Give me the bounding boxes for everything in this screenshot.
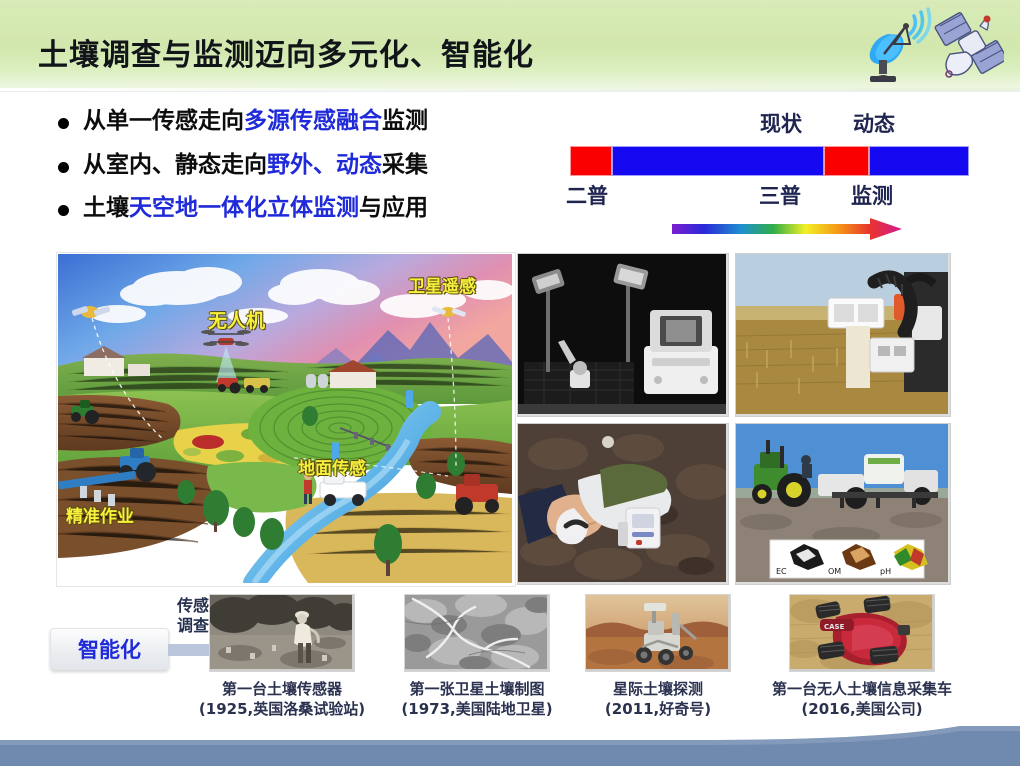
timeline-segment-red (570, 146, 612, 176)
history-caption: 星际土壤探测 (2011,好奇号) (553, 680, 763, 719)
survey-timeline: 现状 动态 二普 三普 监测 (560, 108, 980, 248)
history-subtitle: (1925,英国洛桑试验站) (177, 700, 387, 720)
history-subtitle: (2016,美国公司) (757, 700, 967, 720)
timeline-label-erpu: 二普 (566, 180, 608, 210)
timeline-label-dongtai: 动态 (853, 108, 895, 138)
bullet-dot-icon (58, 205, 69, 216)
timeline-bottom-labels: 二普 三普 监测 (560, 180, 980, 210)
field-soil-sensor-photo (735, 253, 951, 417)
history-item: 星际土壤探测 (2011,好奇号) (553, 594, 763, 719)
legend-label-ec: EC (776, 567, 787, 576)
mars-rover-photo (585, 594, 731, 672)
history-title: 星际土壤探测 (553, 680, 763, 700)
history-title: 第一台无人土壤信息采集车 (757, 680, 967, 700)
timeline-segment-red (824, 146, 869, 176)
autonomous-soil-sampler-photo: CASE (789, 594, 935, 672)
equipment-photo-grid: EC OM pH (517, 253, 951, 584)
legend-label-om: OM (828, 567, 841, 576)
timeline-top-labels: 现状 动态 (560, 108, 980, 138)
history-caption: 第一台土壤传感器 (1925,英国洛桑试验站) (177, 680, 387, 719)
satellite-dish-icon (870, 9, 930, 82)
history-timeline-row: 智能化 传感 调查 (0, 592, 1020, 738)
bullet-list: 从单一传感走向多源传感融合监测 从室内、静态走向野外、动态采集 土壤天空地一体化… (58, 108, 528, 239)
bullet-item: 从室内、静态走向野外、动态采集 (58, 152, 528, 180)
lab-spectrometer-photo (517, 253, 729, 417)
first-soil-sensor-photo (209, 594, 355, 672)
timeline-label-jiance: 监测 (851, 180, 893, 210)
bullet-dot-icon (58, 118, 69, 129)
page-title: 土壤调查与监测迈向多元化、智能化 (38, 30, 534, 74)
header-icon-group (844, 4, 1004, 86)
satellite-icon (935, 12, 1004, 77)
bullet-item: 土壤天空地一体化立体监测与应用 (58, 195, 528, 223)
timeline-label-sanpu: 三普 (759, 180, 801, 210)
bullet-dot-icon (58, 162, 69, 173)
tractor-soil-mapping-photo: EC OM pH (735, 423, 951, 585)
svg-text:CASE: CASE (824, 623, 845, 631)
history-item: CASE (757, 594, 967, 719)
first-satellite-soil-map-photo (404, 594, 550, 672)
spectrum-arrow-icon (672, 218, 902, 240)
timeline-label-xianzhuang: 现状 (760, 108, 802, 138)
precision-agriculture-illustration: 卫星遥感 无人机 地面传感 精准作业 (57, 253, 515, 586)
timeline-segment-blue (612, 146, 824, 176)
intelligent-badge-label: 智能化 (78, 634, 141, 664)
handheld-xrf-analyzer-photo (517, 423, 729, 585)
soil-map-legend: EC OM pH (770, 540, 928, 578)
intelligent-badge: 智能化 (50, 628, 169, 670)
legend-label-ph: pH (880, 567, 891, 576)
history-title: 第一张卫星土壤制图 (372, 680, 582, 700)
history-title: 第一台土壤传感器 (177, 680, 387, 700)
history-item: 第一张卫星土壤制图 (1973,美国陆地卫星) (372, 594, 582, 719)
bullet-text: 土壤天空地一体化立体监测与应用 (83, 195, 428, 223)
history-subtitle: (1973,美国陆地卫星) (372, 700, 582, 720)
slide-footer (0, 726, 1020, 766)
history-caption: 第一张卫星土壤制图 (1973,美国陆地卫星) (372, 680, 582, 719)
history-caption: 第一台无人土壤信息采集车 (2016,美国公司) (757, 680, 967, 719)
timeline-segment-blue (869, 146, 969, 176)
history-subtitle: (2011,好奇号) (553, 700, 763, 720)
bullet-item: 从单一传感走向多源传感融合监测 (58, 108, 528, 136)
bullet-text: 从单一传感走向多源传感融合监测 (83, 108, 428, 136)
history-item: 第一台土壤传感器 (1925,英国洛桑试验站) (177, 594, 387, 719)
slide-root: 土壤调查与监测迈向多元化、智能化 (0, 0, 1020, 766)
bullet-text: 从室内、静态走向野外、动态采集 (83, 152, 428, 180)
header-divider (0, 88, 1020, 92)
timeline-bar (570, 146, 969, 176)
